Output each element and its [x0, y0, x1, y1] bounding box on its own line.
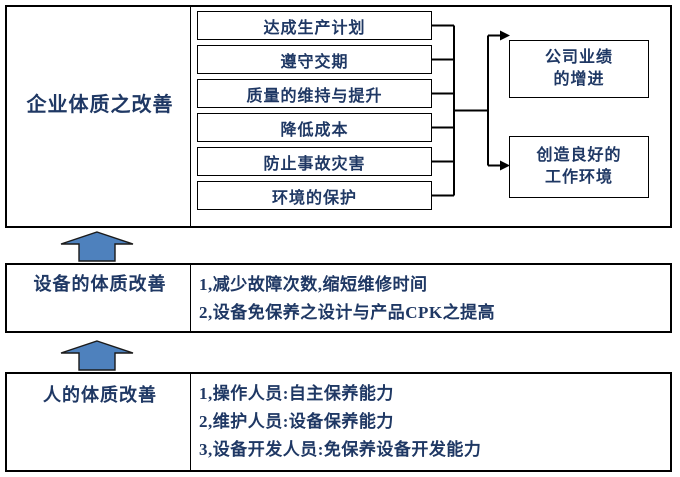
result-box-2[interactable]: 创造良好的 工作环境: [509, 136, 649, 198]
result-label: 公司业绩 的增进: [545, 47, 613, 91]
up-block-arrow-2: [60, 340, 134, 371]
objective-label: 降低成本: [280, 116, 348, 140]
objective-box-6[interactable]: 环境的保护: [197, 181, 432, 210]
result-box-1[interactable]: 公司业绩 的增进: [509, 40, 649, 98]
bottom-section-list: 1,操作人员:自主保养能力 2,维护人员:设备保养能力 3,设备开发人员:免保养…: [199, 380, 664, 464]
middle-section-list: 1,减少故障次数,缩短维修时间 2,设备免保养之设计与产品CPK之提高: [199, 271, 664, 327]
objective-label: 环境的保护: [272, 184, 357, 208]
list-item: 2,设备免保养之设计与产品CPK之提高: [199, 299, 664, 327]
list-item: 3,设备开发人员:免保养设备开发能力: [199, 436, 664, 464]
top-panel-divider: [190, 7, 191, 226]
objective-label: 质量的维持与提升: [246, 82, 382, 106]
diagram-canvas: 企业体质之改善 达成生产计划 遵守交期 质量的维持与提升 降低成本 防止事故灾害…: [0, 0, 680, 477]
list-item: 1,减少故障次数,缩短维修时间: [199, 271, 664, 299]
bottom-panel-divider: [190, 374, 191, 470]
bottom-section-panel: 人的体质改善 1,操作人员:自主保养能力 2,维护人员:设备保养能力 3,设备开…: [5, 372, 672, 472]
middle-section-heading: 设备的体质改善: [15, 273, 185, 295]
objective-box-1[interactable]: 达成生产计划: [197, 11, 432, 40]
objective-label: 遵守交期: [280, 48, 348, 72]
top-section-panel: 企业体质之改善 达成生产计划 遵守交期 质量的维持与提升 降低成本 防止事故灾害…: [5, 5, 672, 228]
list-item: 1,操作人员:自主保养能力: [199, 380, 664, 408]
result-label: 创造良好的 工作环境: [536, 145, 621, 189]
objective-label: 达成生产计划: [263, 14, 365, 38]
objective-box-5[interactable]: 防止事故灾害: [197, 147, 432, 176]
objective-box-4[interactable]: 降低成本: [197, 113, 432, 142]
objective-box-3[interactable]: 质量的维持与提升: [197, 79, 432, 108]
objective-box-2[interactable]: 遵守交期: [197, 45, 432, 74]
top-section-heading: 企业体质之改善: [15, 93, 185, 117]
list-item: 2,维护人员:设备保养能力: [199, 408, 664, 436]
middle-section-panel: 设备的体质改善 1,减少故障次数,缩短维修时间 2,设备免保养之设计与产品CPK…: [5, 263, 672, 333]
up-block-arrow-1: [60, 231, 134, 262]
objective-label: 防止事故灾害: [263, 150, 365, 174]
bottom-section-heading: 人的体质改善: [15, 384, 185, 406]
middle-panel-divider: [190, 265, 191, 331]
